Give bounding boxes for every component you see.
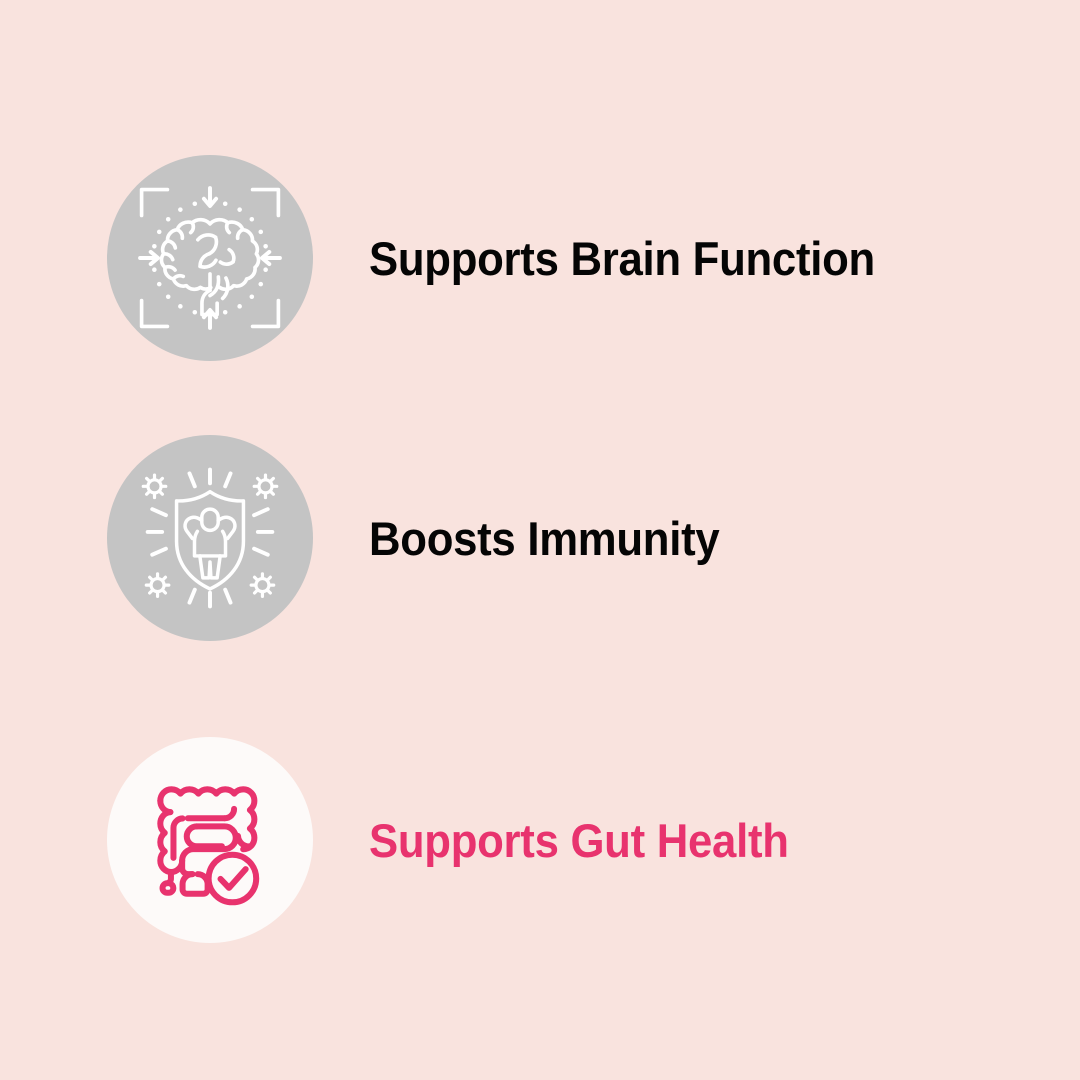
brain-scan-icon [134, 182, 286, 334]
feature-label-immunity: Boosts Immunity [369, 435, 719, 641]
brain-scan-icon-badge [107, 155, 313, 361]
benefits-infographic: Supports Brain Function [0, 0, 1080, 1080]
feature-row: Boosts Immunity [0, 435, 1080, 641]
feature-label-brain: Supports Brain Function [369, 155, 875, 361]
intestine-check-icon [140, 770, 280, 910]
feature-row: Supports Brain Function [0, 155, 1080, 361]
feature-label-gut: Supports Gut Health [369, 737, 789, 943]
intestine-check-icon-badge [107, 737, 313, 943]
feature-row: Supports Gut Health [0, 737, 1080, 943]
shield-immunity-icon [134, 462, 286, 614]
shield-immunity-icon-badge [107, 435, 313, 641]
